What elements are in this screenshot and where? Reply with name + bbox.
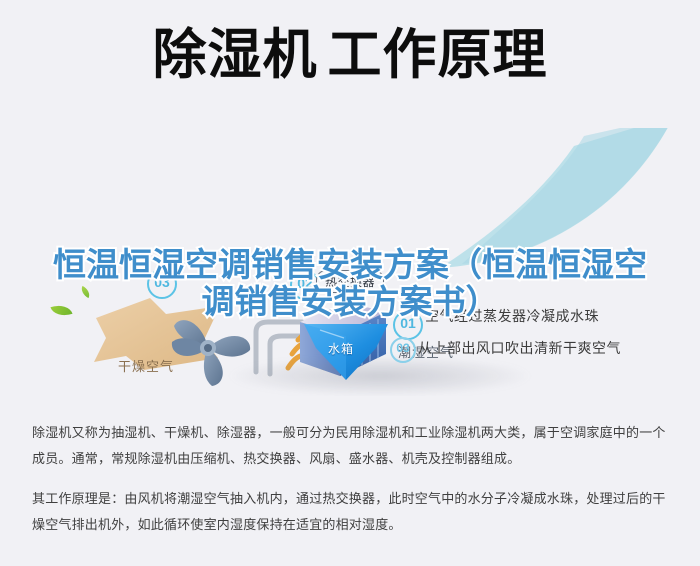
body-paragraph-2-rest: 由风机将潮湿空气抽入机内，通过热交换器，此时空气中的水分子冷凝成水珠，处理过后的… <box>32 491 666 532</box>
page-title-part1: 除湿机 <box>153 25 318 85</box>
body-paragraph-2: 其工作原理是：由风机将潮湿空气抽入机内，通过热交换器，此时空气中的水分子冷凝成水… <box>32 486 672 538</box>
page-title: 除湿机工作原理 <box>0 26 700 85</box>
water-tank-label: 水箱 <box>328 340 354 357</box>
body-paragraph-2-lead: 其工作原理是： <box>32 491 124 506</box>
article-body: 除湿机又称为抽湿机、干燥机、除湿器，一般可分为民用除湿机和工业除湿机两大类，属于… <box>32 420 672 552</box>
body-paragraph-1: 除湿机又称为抽湿机、干燥机、除湿器，一般可分为民用除湿机和工业除湿机两大类，属于… <box>32 420 672 472</box>
page-title-part2: 工作原理 <box>328 25 548 85</box>
caption-outlet: 从上部出风口吹出清新干爽空气 <box>418 338 621 358</box>
page-root: 除湿机工作原理 干燥空气 <box>0 0 700 566</box>
overlay-article-title: 恒温恒湿空调销售安装方案（恒温恒湿空调销售安装方案书） <box>44 246 656 320</box>
badge-outlet: 03 <box>390 337 416 363</box>
